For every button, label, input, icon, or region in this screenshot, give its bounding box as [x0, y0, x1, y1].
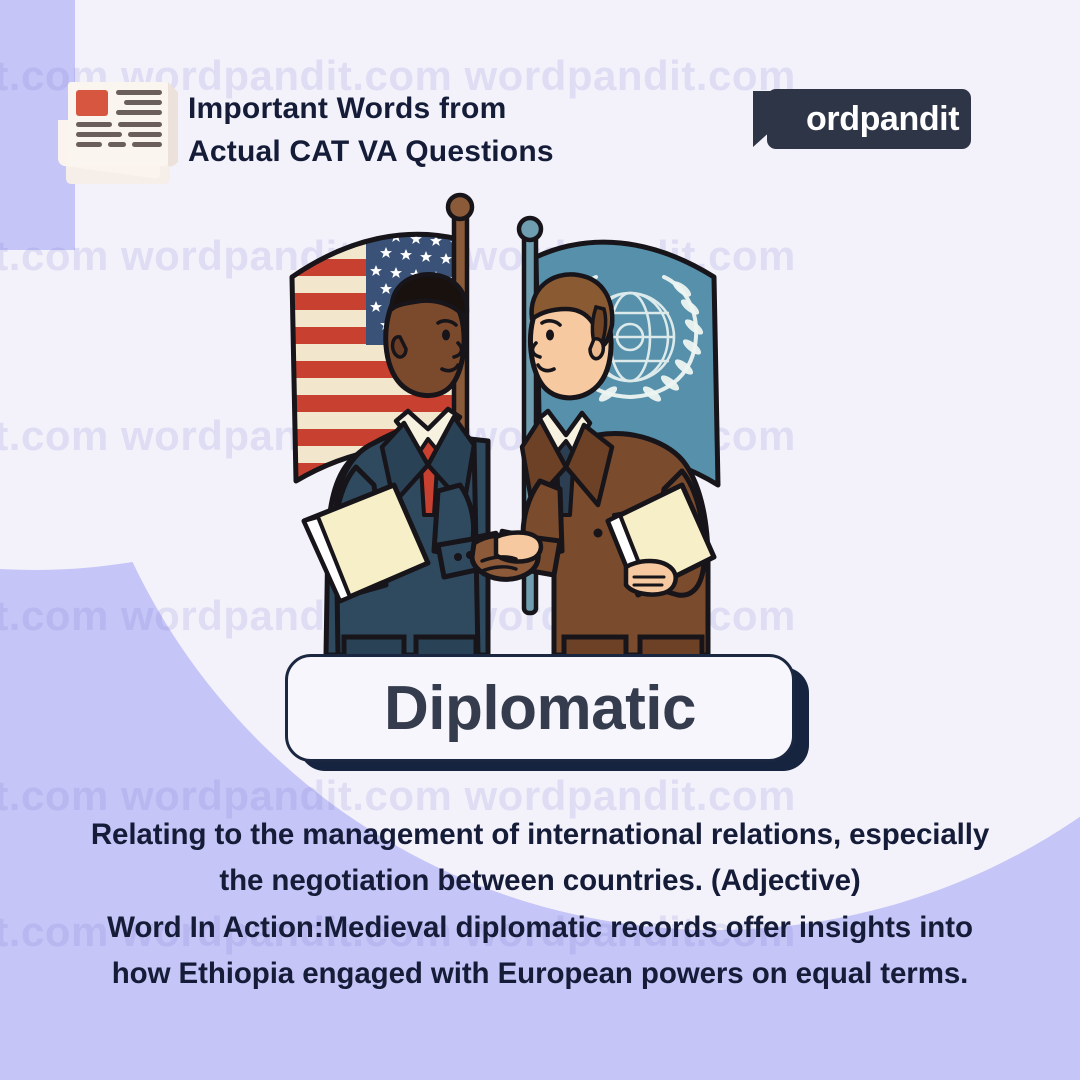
bookmark-w-icon [749, 89, 797, 155]
logo-text: ordpandit [806, 89, 959, 149]
newspaper-icon [52, 74, 184, 186]
definition-text: Relating to the management of internatio… [24, 812, 1056, 904]
word-in-action-line2: how Ethiopia engaged with European power… [24, 951, 1056, 997]
word-in-action-text: Word In Action:Medieval diplomatic recor… [24, 905, 1056, 997]
definition-line2: the negotiation between countries. (Adje… [24, 858, 1056, 904]
definition-line1: Relating to the management of internatio… [24, 812, 1056, 858]
word-card: Diplomatic [285, 654, 813, 772]
page-title-line2: Actual CAT VA Questions [188, 131, 554, 174]
vocabulary-word: Diplomatic [384, 673, 696, 744]
header: Important Words from Actual CAT VA Quest… [0, 0, 1080, 190]
word-card-face: Diplomatic [285, 654, 795, 762]
wordpandit-logo[interactable]: ordpandit [749, 89, 971, 149]
poster-canvas: dit.com wordpandit.com wordpandit.com di… [0, 0, 1080, 1080]
handshake-icon [472, 533, 541, 580]
two-diplomats-handshake-illustration [278, 185, 758, 665]
word-in-action-line1: Word In Action:Medieval diplomatic recor… [24, 905, 1056, 951]
page-title: Important Words from Actual CAT VA Quest… [188, 88, 554, 173]
page-title-line1: Important Words from [188, 88, 554, 131]
